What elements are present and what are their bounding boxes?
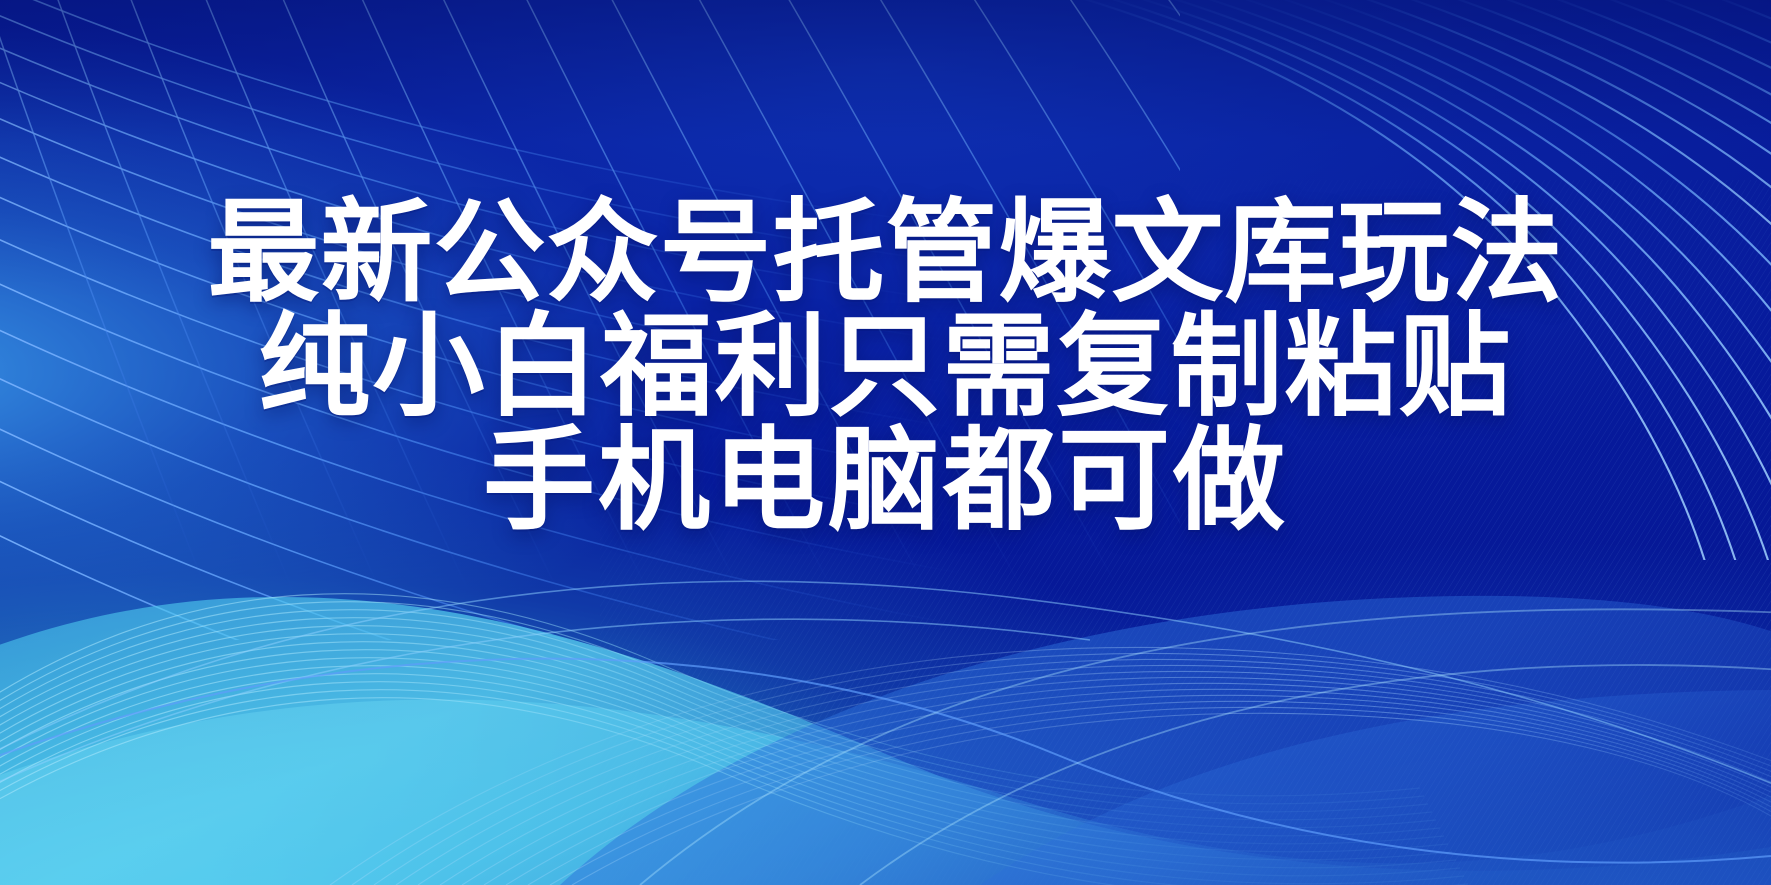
- headline-line-1: 最新公众号托管爆文库玩法: [0, 196, 1771, 310]
- headline-block: 最新公众号托管爆文库玩法 纯小白福利只需复制粘贴 手机电脑都可做: [0, 196, 1771, 538]
- headline-line-2: 纯小白福利只需复制粘贴: [0, 310, 1771, 424]
- promo-banner: 最新公众号托管爆文库玩法 纯小白福利只需复制粘贴 手机电脑都可做: [0, 0, 1771, 885]
- headline-line-3: 手机电脑都可做: [0, 424, 1771, 538]
